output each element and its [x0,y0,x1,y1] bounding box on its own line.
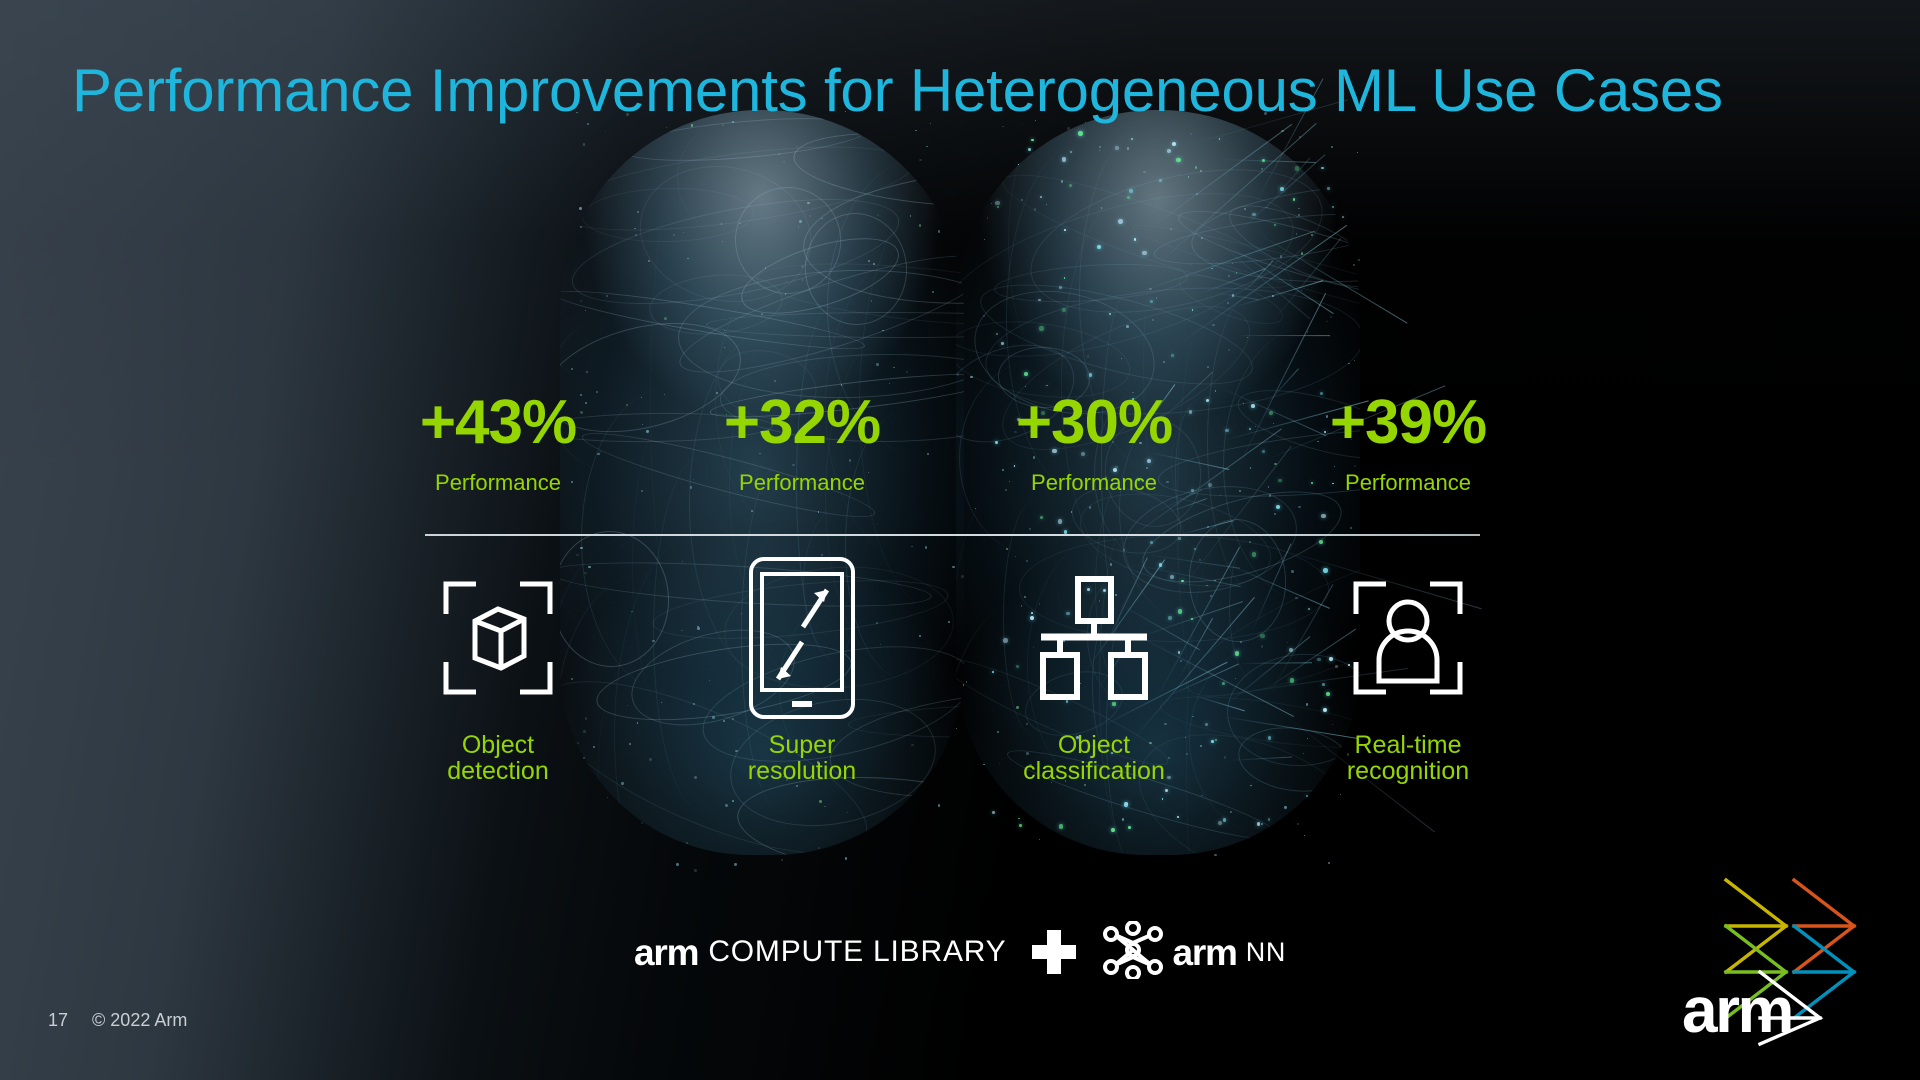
stat-block: +32% Performance [692,392,912,496]
compute-library-wordmark: COMPUTE LIBRARY [708,937,1006,967]
stat-label: Performance [1298,470,1518,496]
person-recognition-icon [1298,548,1518,728]
nn-wordmark: NN [1246,939,1286,966]
stat-block: +39% Performance [1298,392,1518,496]
arm-wordmark: arm [1682,978,1792,1042]
stat-block: +30% Performance [984,392,1204,496]
stat-label: Performance [388,470,608,496]
caption-object-classification: Object classification [984,732,1204,784]
copyright-text: © 2022 Arm [92,1010,187,1031]
arm-compute-library-logo: arm COMPUTE LIBRARY [634,934,1006,971]
arm-nn-logo: arm NN [1102,921,1285,984]
caption-line: resolution [692,758,912,784]
caption-real-time-recognition: Real-time recognition [1298,732,1518,784]
page-number: 17 [48,1010,68,1031]
super-resolution-icon [692,548,912,728]
object-detection-icon [388,548,608,728]
caption-line: Object [984,732,1204,758]
stats-row: +43% Performance +32% Performance +30% P… [380,392,1520,512]
captions-row: Object detection Super resolution Object… [380,732,1520,802]
slide-canvas: Performance Improvements for Heterogeneo… [0,0,1920,1080]
caption-line: detection [388,758,608,784]
object-classification-icon [984,548,1204,728]
caption-line: classification [984,758,1204,784]
neural-network-icon [1102,921,1164,984]
icons-row [380,548,1520,728]
stat-block: +43% Performance [388,392,608,496]
arm-corner-logo: arm [1682,872,1882,1052]
stat-value: +30% [984,392,1204,454]
caption-line: Super [692,732,912,758]
arm-wordmark: arm [634,934,698,971]
caption-line: Object [388,732,608,758]
horizontal-divider [425,534,1480,536]
stat-value: +32% [692,392,912,454]
plus-icon [1032,930,1076,974]
stat-label: Performance [692,470,912,496]
caption-super-resolution: Super resolution [692,732,912,784]
footer: 17 © 2022 Arm [48,1010,187,1031]
caption-line: Real-time [1298,732,1518,758]
caption-object-detection: Object detection [388,732,608,784]
stat-label: Performance [984,470,1204,496]
stat-value: +43% [388,392,608,454]
page-title: Performance Improvements for Heterogeneo… [72,56,1723,125]
stat-value: +39% [1298,392,1518,454]
logo-strip: arm COMPUTE LIBRARY [0,915,1920,989]
caption-line: recognition [1298,758,1518,784]
arm-wordmark: arm [1172,934,1236,971]
